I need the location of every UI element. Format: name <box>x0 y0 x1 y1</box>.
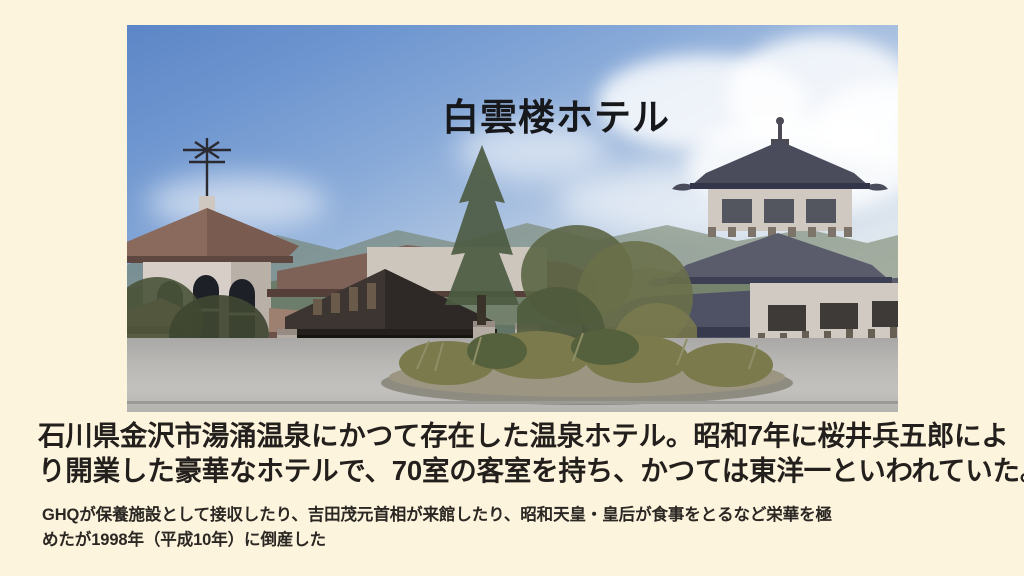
subcaption-line-2: めたが1998年（平成10年）に倒産した <box>42 528 1010 553</box>
weathervane-icon <box>183 138 231 198</box>
caption-block: 石川県金沢市湯涌温泉にかつて存在した温泉ホテル。昭和7年に桜井兵五郎によ り開業… <box>38 418 1016 488</box>
garden-island <box>377 325 797 405</box>
slide-canvas: 白雲楼ホテル 石川県金沢市湯涌温泉にかつて存在した温泉ホテル。昭和7年に桜井兵五… <box>0 0 1024 576</box>
subcaption-block: GHQが保養施設として接収したり、吉田茂元首相が来館したり、昭和天皇・皇后が食事… <box>42 503 1010 553</box>
hotel-photograph: 白雲楼ホテル <box>127 25 898 412</box>
pagoda-second-roof <box>670 233 888 279</box>
caption-line-1: 石川県金沢市湯涌温泉にかつて存在した温泉ホテル。昭和7年に桜井兵五郎によ <box>38 418 1016 453</box>
kerb-line <box>127 401 898 404</box>
pagoda-top-roof <box>692 141 868 185</box>
photo-title-overlay: 白雲楼ホテル <box>442 87 670 141</box>
roof-finial-icon <box>771 117 789 145</box>
subcaption-line-1: GHQが保養施設として接収したり、吉田茂元首相が来館したり、昭和天皇・皇后が食事… <box>42 503 1010 528</box>
caption-line-2: り開業した豪華なホテルで、70室の客室を持ち、かつては東洋一といわれていた。 <box>38 453 1016 488</box>
tower-window <box>722 199 836 223</box>
